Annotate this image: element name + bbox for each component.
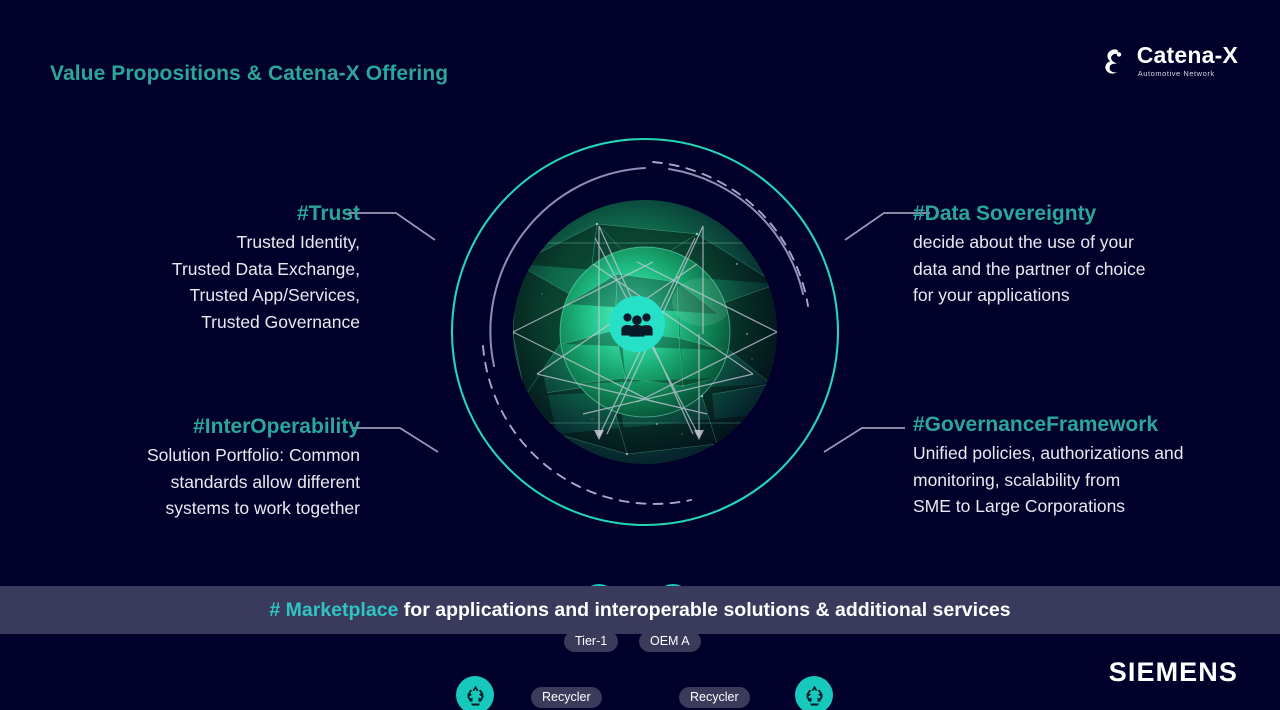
callout-line: SME to Large Corporations — [913, 493, 1258, 520]
callout-line: standards allow different — [80, 469, 360, 496]
callout-governance-framework: #GovernanceFramework Unified policies, a… — [913, 413, 1258, 520]
siemens-logo: SIEMENS — [1109, 657, 1238, 688]
callout-line: data and the partner of choice — [913, 256, 1253, 283]
callout-trust-heading: #Trust — [110, 202, 360, 226]
node-label[interactable]: Tier-1 — [564, 631, 618, 652]
marketplace-text: # Marketplace for applications and inter… — [269, 599, 1010, 622]
marketplace-accent: # Marketplace — [269, 599, 398, 621]
callout-line: Trusted Data Exchange, — [110, 256, 360, 283]
callout-interoperability: #InterOperability Solution Portfolio: Co… — [80, 415, 360, 522]
catena-x-tagline: Automotive Network — [1138, 70, 1238, 78]
node-label[interactable]: Recycler — [531, 687, 602, 708]
recycle-icon[interactable] — [456, 676, 494, 710]
marketplace-rest: for applications and interoperable solut… — [398, 599, 1010, 621]
people-group-icon — [621, 311, 653, 337]
catena-x-network-diagram: Tier-1 OEM A — [447, 134, 843, 530]
catena-x-wordmark: Catena-X — [1137, 44, 1238, 67]
callout-data-sovereignty: #Data Sovereignty decide about the use o… — [913, 202, 1253, 309]
node-label[interactable]: Recycler — [679, 687, 750, 708]
callout-governance-framework-heading: #GovernanceFramework — [913, 413, 1258, 437]
callout-data-sovereignty-body: decide about the use of your data and th… — [913, 229, 1253, 309]
marketplace-band: # Marketplace for applications and inter… — [0, 586, 1280, 634]
callout-line: Unified policies, authorizations and — [913, 440, 1258, 467]
callout-line: decide about the use of your — [913, 229, 1253, 256]
callout-line: monitoring, scalability from — [913, 467, 1258, 494]
callout-interoperability-heading: #InterOperability — [80, 415, 360, 439]
catena-x-swirl-icon — [1098, 46, 1128, 76]
callout-trust: #Trust Trusted Identity, Trusted Data Ex… — [110, 202, 360, 335]
callout-data-sovereignty-heading: #Data Sovereignty — [913, 202, 1253, 226]
node-label[interactable]: OEM A — [639, 631, 701, 652]
callout-governance-framework-body: Unified policies, authorizations and mon… — [913, 440, 1258, 520]
callout-line: Trusted App/Services, — [110, 282, 360, 309]
hub-node[interactable] — [609, 296, 665, 352]
callout-trust-body: Trusted Identity, Trusted Data Exchange,… — [110, 229, 360, 335]
callout-line: Trusted Governance — [110, 309, 360, 336]
page-title: Value Propositions & Catena-X Offering — [50, 62, 448, 86]
catena-x-logo: Catena-X Automotive Network — [1098, 44, 1238, 78]
recycle-icon[interactable] — [795, 676, 833, 710]
callout-interoperability-body: Solution Portfolio: Common standards all… — [80, 442, 360, 522]
callout-line: Solution Portfolio: Common — [80, 442, 360, 469]
callout-line: systems to work together — [80, 495, 360, 522]
callout-line: for your applications — [913, 282, 1253, 309]
callout-line: Trusted Identity, — [110, 229, 360, 256]
